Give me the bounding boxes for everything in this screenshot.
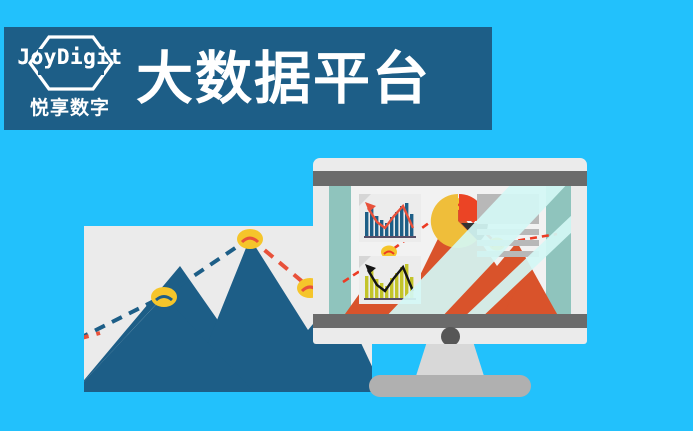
illustration-canvas: JoyDigit 悦享数字 大数据平台 — [0, 0, 693, 431]
monitor-power-indicator — [441, 327, 460, 346]
text-line — [477, 251, 539, 257]
screen-bar-chart-olive-card — [359, 256, 421, 304]
data-point-marker — [151, 287, 177, 307]
screen-bar-chart-olive — [359, 256, 421, 304]
monitor-top-bar — [313, 171, 587, 186]
arrow-up-left-icon — [365, 264, 376, 274]
text-line — [477, 229, 539, 235]
text-line — [477, 240, 539, 246]
page-title: 大数据平台 — [136, 45, 431, 113]
arrow-up-left-icon — [365, 202, 376, 212]
screen-bar-chart-blue-card — [359, 194, 421, 242]
monitor-stand — [416, 344, 484, 376]
screen-text-block — [477, 194, 539, 257]
image-placeholder — [477, 194, 539, 224]
header-banner: JoyDigit 悦享数字 大数据平台 — [4, 27, 492, 130]
data-point-marker — [237, 229, 263, 249]
monitor-base — [369, 375, 531, 397]
logo-wordmark: JoyDigit — [14, 45, 126, 69]
logo-chinese-text: 悦享数字 — [14, 93, 126, 120]
screen-bar-chart-blue — [359, 194, 421, 242]
screen-left-strip — [329, 186, 351, 314]
monitor-screen — [329, 186, 571, 314]
brand-logo: JoyDigit 悦享数字 — [14, 33, 126, 125]
desktop-monitor — [313, 158, 587, 388]
monitor-bottom-bar — [313, 314, 587, 328]
